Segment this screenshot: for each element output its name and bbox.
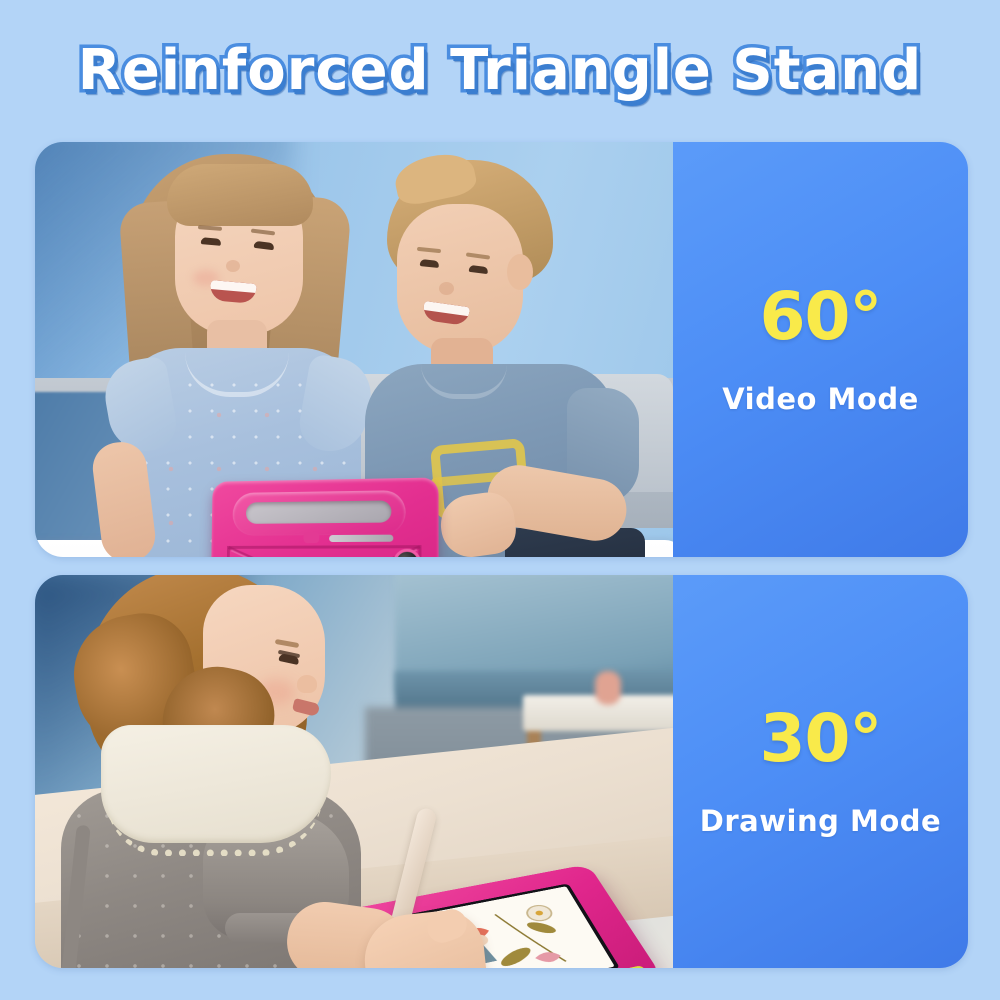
- girl-hair-fringe: [167, 164, 313, 226]
- case-stylus-nub: [304, 532, 320, 543]
- page-title: Reinforced Triangle Stand: [78, 38, 923, 103]
- angle-value-30: 30°: [760, 706, 882, 772]
- page-title-container: Reinforced Triangle Stand: [0, 28, 1000, 112]
- boy-nose: [439, 282, 454, 295]
- boy-face: [397, 204, 523, 354]
- girl2-collar-lace-trim: [107, 793, 323, 856]
- info-panel-drawing-mode: 30° Drawing Mode: [673, 575, 968, 968]
- angle-value-60: 60°: [760, 284, 882, 350]
- info-panel-video-mode: 60° Video Mode: [673, 142, 968, 557]
- boy-ear: [507, 254, 533, 290]
- girl-nose: [226, 260, 240, 272]
- case-handle-opening: [246, 500, 392, 523]
- product-feature-page: Reinforced Triangle Stand: [0, 0, 1000, 1000]
- photo-drawing-mode: [35, 575, 673, 968]
- photo-video-mode: [35, 142, 673, 557]
- girl2-nose: [297, 675, 317, 693]
- pink-decor-object: [595, 671, 621, 705]
- feature-card-video-mode: 60° Video Mode: [35, 142, 968, 557]
- tablet-case-video-mode: [210, 477, 439, 557]
- mode-label-drawing: Drawing Mode: [700, 804, 941, 838]
- case-stylus-holder: [329, 535, 393, 542]
- mode-label-video: Video Mode: [722, 382, 919, 416]
- triangle-stand-pattern: [223, 541, 424, 557]
- feature-card-drawing-mode: 30° Drawing Mode: [35, 575, 968, 968]
